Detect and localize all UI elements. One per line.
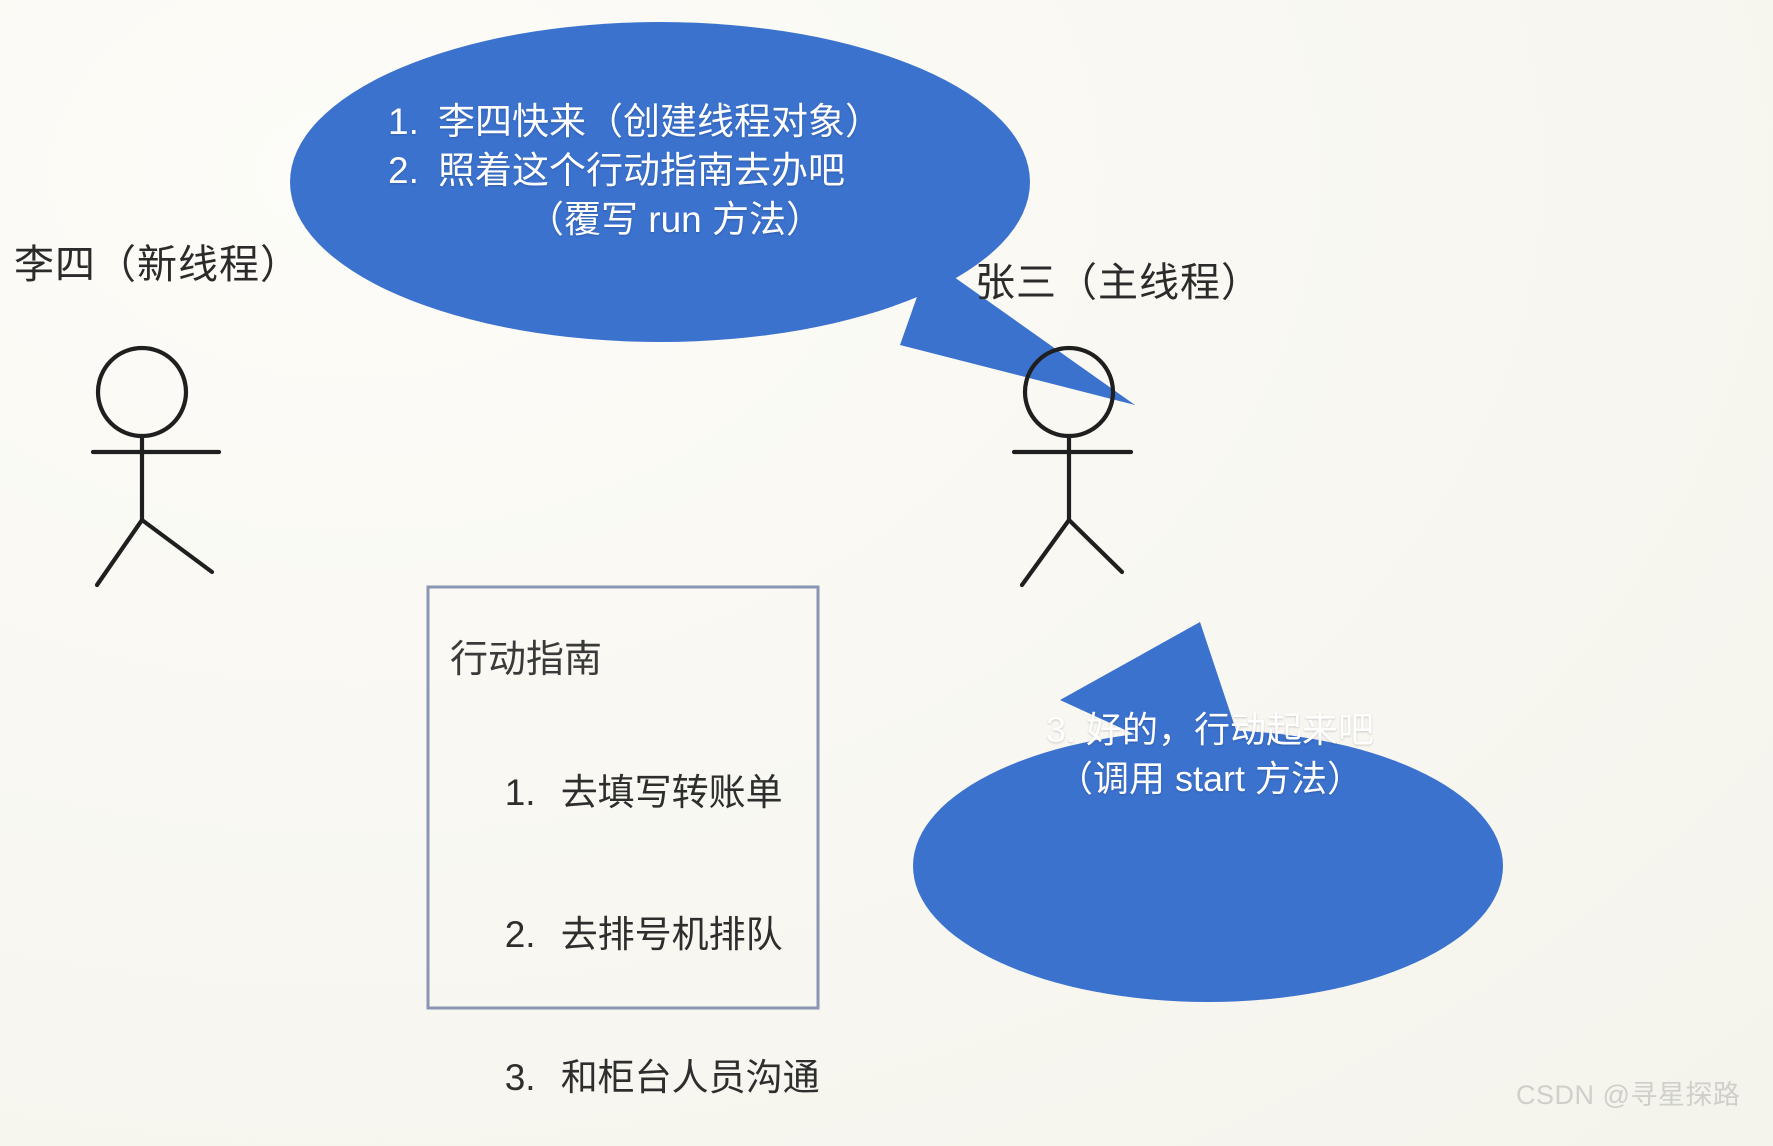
- stick-figure-left-leg-left: [97, 520, 142, 585]
- stick-figure-left: [93, 348, 219, 585]
- guide-list-item-number: 1.: [505, 769, 561, 816]
- bubble-top-item-2-number: 2.: [388, 147, 438, 196]
- guide-list-item-text: 和柜台人员沟通: [561, 1057, 820, 1098]
- guide-list-item: 2.去排号机排队: [443, 864, 803, 1006]
- csdn-watermark: CSDN @寻星探路: [1516, 1073, 1740, 1112]
- actor-label-left: 李四（新线程）: [14, 232, 301, 290]
- bubble-bottom-line-1: 3. 好的，行动起来吧: [930, 706, 1490, 755]
- bubble-top-item-1-number: 1.: [388, 98, 438, 147]
- speech-bubble-bottom: [913, 622, 1503, 1002]
- stick-figure-right-leg-right: [1069, 520, 1122, 572]
- guide-list-item-text: 去排号机排队: [561, 914, 783, 955]
- guide-list-item-text: 去填写转账单: [561, 772, 783, 813]
- diagram-canvas: 李四（新线程） 张三（主线程） 1.李四快来（创建线程对象） 2.照着这个行动指…: [0, 0, 1773, 1146]
- bubble-top-item-1: 1.李四快来（创建线程对象）: [330, 98, 990, 147]
- guide-list-item: 1.去填写转账单: [443, 722, 803, 864]
- bubble-bottom-line-2: （调用 start 方法）: [930, 755, 1490, 804]
- speech-bubble-top-text: 1.李四快来（创建线程对象） 2.照着这个行动指南去办吧 （覆写 run 方法）: [330, 98, 990, 244]
- guide-box-list: 1.去填写转账单 2.去排号机排队 3.和柜台人员沟通 4.拿到回执 5.汇报给…: [443, 722, 803, 1146]
- stick-figure-right-leg-left: [1022, 520, 1069, 585]
- bubble-top-item-2: 2.照着这个行动指南去办吧: [330, 147, 990, 196]
- bubble-top-center-line: （覆写 run 方法）: [330, 196, 990, 245]
- guide-list-item: 3.和柜台人员沟通: [443, 1006, 803, 1146]
- bubble-top-item-2-text: 照着这个行动指南去办吧: [438, 150, 845, 191]
- bubble-top-item-1-text: 李四快来（创建线程对象）: [438, 101, 882, 142]
- stick-figure-left-head: [98, 348, 186, 436]
- speech-bubble-bottom-text: 3. 好的，行动起来吧 （调用 start 方法）: [930, 706, 1490, 803]
- guide-box-title: 行动指南: [450, 628, 602, 683]
- guide-list-item-number: 2.: [505, 911, 561, 958]
- stick-figure-left-leg-right: [142, 520, 212, 572]
- actor-label-right: 张三（主线程）: [975, 250, 1262, 308]
- guide-list-item-number: 3.: [505, 1054, 561, 1101]
